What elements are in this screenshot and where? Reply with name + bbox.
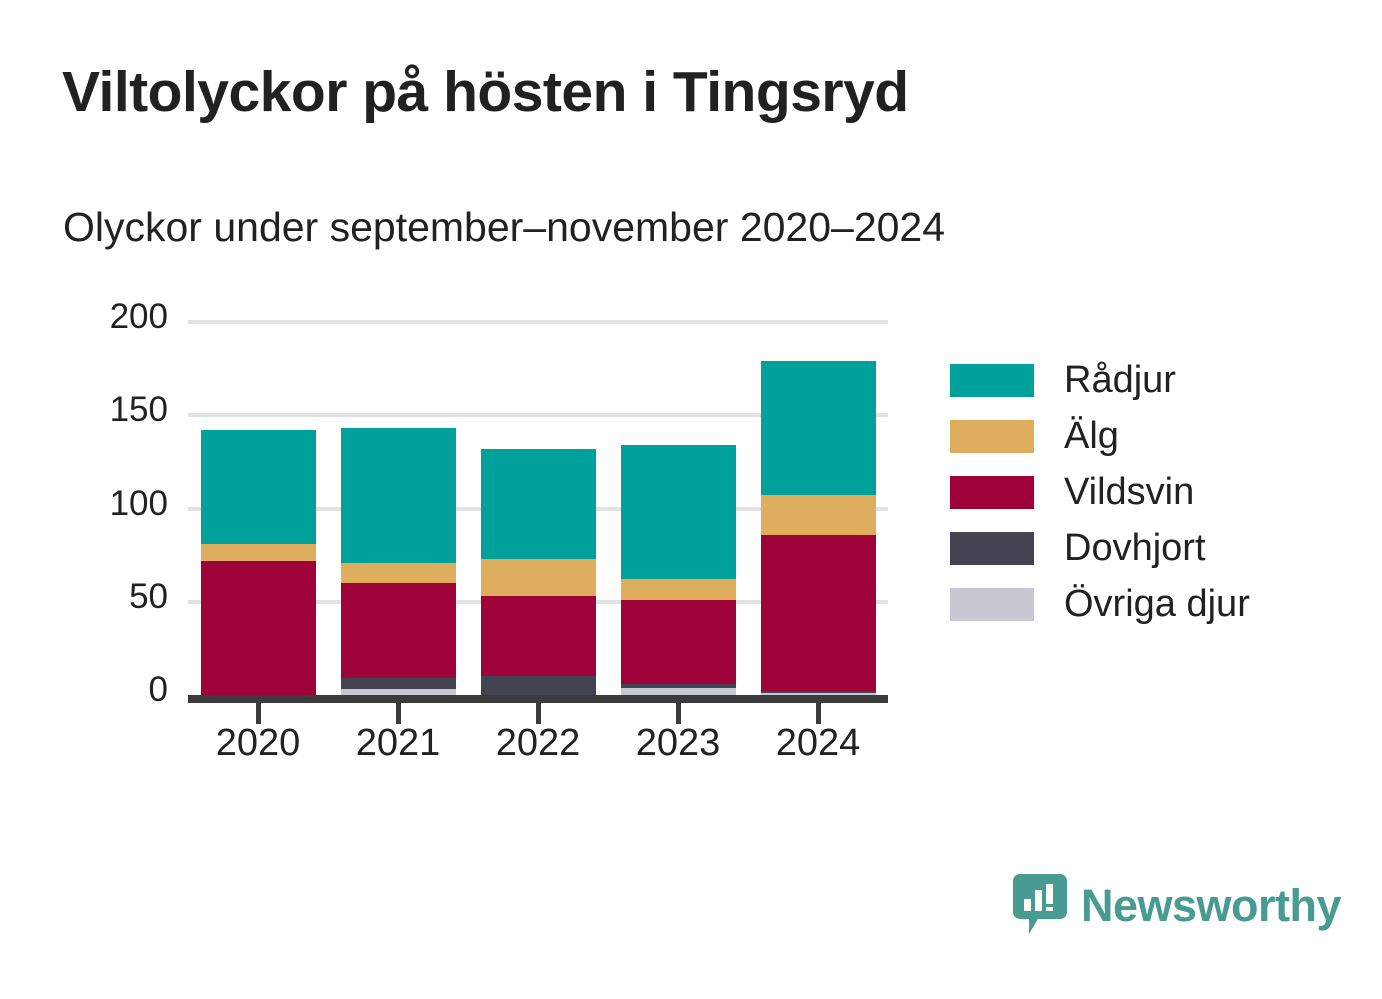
bar-segment-2022-dovhjort[interactable]	[481, 676, 596, 695]
bar-segment-2023-rådjur[interactable]	[621, 445, 736, 579]
legend-item-dovhjort[interactable]: Dovhjort	[950, 520, 1250, 576]
legend-item-vildsvin[interactable]: Vildsvin	[950, 464, 1250, 520]
legend-item-älg[interactable]: Älg	[950, 408, 1250, 464]
x-axis-line	[188, 695, 888, 703]
y-axis-tick-label: 150	[0, 390, 168, 430]
bar-segment-2022-rådjur[interactable]	[481, 449, 596, 559]
x-axis-tick-label-2021: 2021	[328, 722, 468, 765]
x-axis-tick	[676, 703, 681, 724]
bar-group-2020[interactable]	[201, 430, 316, 695]
bar-segment-2023-älg[interactable]	[621, 579, 736, 600]
bar-segment-2020-vildsvin[interactable]	[201, 561, 316, 695]
legend-item-label: Övriga djur	[1064, 583, 1250, 626]
legend-swatch-icon	[950, 364, 1034, 397]
bar-segment-2023-vildsvin[interactable]	[621, 600, 736, 684]
bar-segment-2021-vildsvin[interactable]	[341, 583, 456, 678]
legend-item-label: Älg	[1064, 415, 1119, 458]
y-axis-tick-label: 50	[0, 577, 168, 617]
bar-segment-2021-dovhjort[interactable]	[341, 678, 456, 689]
legend-swatch-icon	[950, 588, 1034, 621]
bar-segment-2021-rådjur[interactable]	[341, 428, 456, 562]
bar-segment-2023-övriga-djur[interactable]	[621, 688, 736, 695]
bar-segment-2024-dovhjort[interactable]	[761, 691, 876, 693]
x-axis-tick-label-2024: 2024	[748, 722, 888, 765]
x-axis-tick	[256, 703, 261, 724]
x-axis-tick-label-2023: 2023	[608, 722, 748, 765]
x-axis-tick	[816, 703, 821, 724]
legend-item-rådjur[interactable]: Rådjur	[950, 352, 1250, 408]
x-axis-tick-label-2020: 2020	[188, 722, 328, 765]
bar-segment-2022-älg[interactable]	[481, 559, 596, 596]
legend-swatch-icon	[950, 420, 1034, 453]
bar-group-2022[interactable]	[481, 449, 596, 695]
bar-segment-2020-rådjur[interactable]	[201, 430, 316, 544]
bar-group-2021[interactable]	[341, 428, 456, 695]
newsworthy-logo: Newsworthy	[1013, 874, 1341, 936]
legend-item-label: Dovhjort	[1064, 527, 1206, 570]
newsworthy-wordmark: Newsworthy	[1081, 883, 1341, 928]
y-axis-tick-label: 0	[0, 670, 168, 710]
bar-segment-2020-älg[interactable]	[201, 544, 316, 561]
legend-item-label: Rådjur	[1064, 359, 1176, 402]
x-axis-tick	[396, 703, 401, 724]
legend-item-övriga-djur[interactable]: Övriga djur	[950, 576, 1250, 632]
bar-segment-2024-rådjur[interactable]	[761, 361, 876, 495]
bar-segment-2023-dovhjort[interactable]	[621, 684, 736, 688]
bar-segment-2021-älg[interactable]	[341, 563, 456, 584]
bar-chart-speech-bubble-icon	[1013, 874, 1067, 936]
legend-swatch-icon	[950, 532, 1034, 565]
gridline	[188, 320, 888, 324]
x-axis-tick	[536, 703, 541, 724]
y-axis-tick-label: 200	[0, 297, 168, 337]
y-axis-labels: 050100150200	[0, 0, 178, 999]
bar-group-2024[interactable]	[761, 361, 876, 695]
bar-segment-2024-älg[interactable]	[761, 495, 876, 534]
y-axis-tick-label: 100	[0, 484, 168, 524]
bar-segment-2022-vildsvin[interactable]	[481, 596, 596, 676]
chart-legend: RådjurÄlgVildsvinDovhjortÖvriga djur	[950, 352, 1250, 632]
legend-item-label: Vildsvin	[1064, 471, 1194, 514]
bar-segment-2024-vildsvin[interactable]	[761, 535, 876, 692]
bar-group-2023[interactable]	[621, 445, 736, 695]
x-axis-tick-label-2022: 2022	[468, 722, 608, 765]
legend-swatch-icon	[950, 476, 1034, 509]
